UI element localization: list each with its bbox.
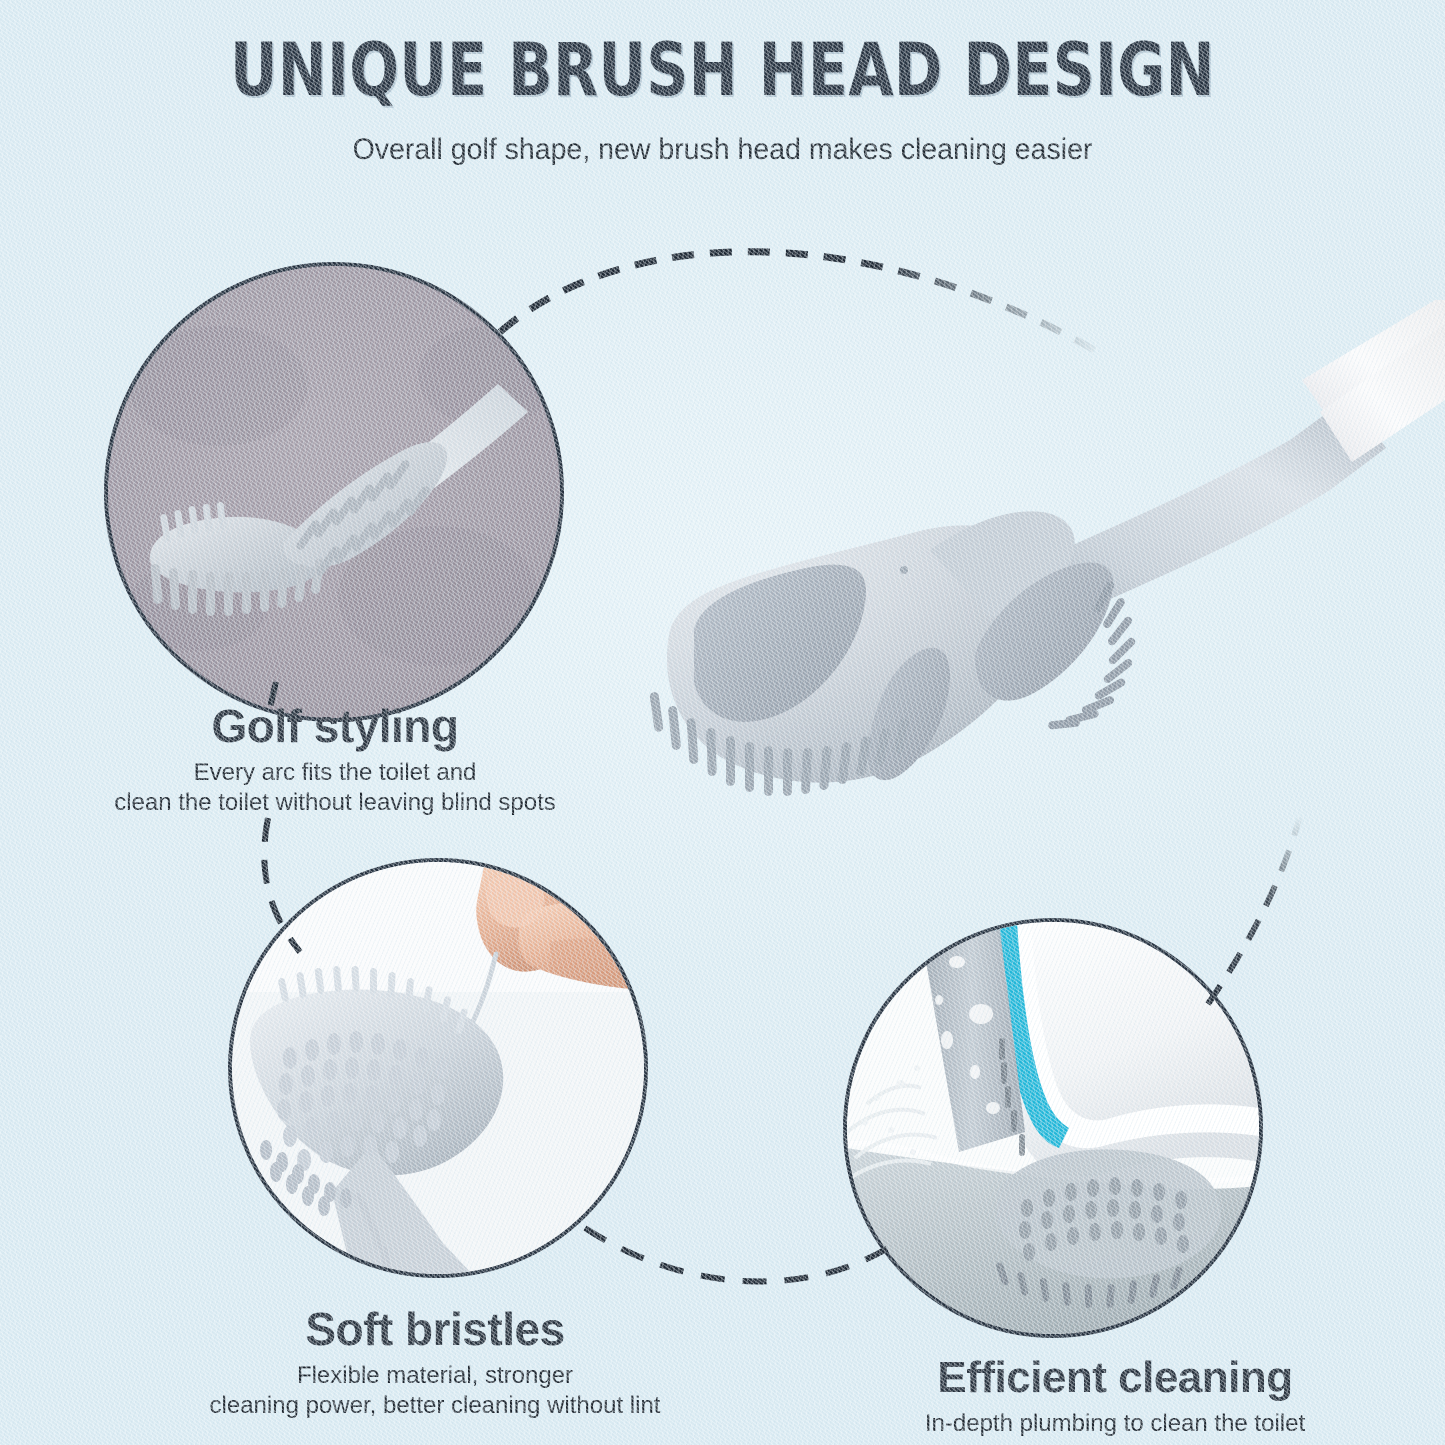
feature-caption-efficient-cleaning: Efficient cleaning In-depth plumbing to …: [835, 1355, 1395, 1438]
feature-heading-efficient-cleaning: Efficient cleaning: [835, 1355, 1395, 1401]
feature-heading-golf-styling: Golf styling: [55, 702, 615, 750]
feature-caption-soft-bristles: Soft bristles Flexible material, stronge…: [165, 1305, 705, 1420]
product-illustration: [630, 300, 1445, 860]
vent-hole: [900, 566, 908, 574]
efficient-cleaning-photo: [843, 918, 1263, 1338]
feature-caption-golf-styling: Golf styling Every arc fits the toilet a…: [55, 702, 615, 817]
feature-heading-soft-bristles: Soft bristles: [165, 1305, 705, 1353]
soft-bristles-photo-art: [232, 862, 644, 1274]
infographic-canvas: UNIQUE BRUSH HEAD DESIGN Overall golf sh…: [0, 0, 1445, 1445]
efficient-cleaning-photo-art: [847, 922, 1259, 1334]
page-subtitle: Overall golf shape, new brush head makes…: [36, 133, 1409, 167]
golf-styling-photo: [104, 262, 564, 722]
soft-bristles-photo: [228, 858, 648, 1278]
golf-styling-photo-art: [108, 266, 560, 718]
feature-body-golf-styling: Every arc fits the toilet and clean the …: [55, 758, 615, 817]
feature-body-efficient-cleaning: In-depth plumbing to clean the toilet: [835, 1409, 1395, 1438]
feature-body-soft-bristles: Flexible material, stronger cleaning pow…: [165, 1361, 705, 1420]
page-title: UNIQUE BRUSH HEAD DESIGN: [145, 34, 1301, 107]
